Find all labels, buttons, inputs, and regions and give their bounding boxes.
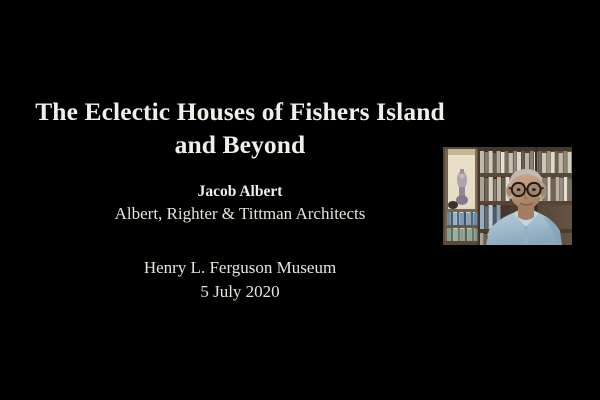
speaker-name: Jacob Albert [0, 181, 480, 202]
speaker-webcam-video[interactable] [443, 147, 572, 245]
slide-text-content: The Eclectic Houses of Fishers Island an… [0, 0, 480, 400]
slide-title-line-2: and Beyond [0, 128, 480, 161]
speaker-credit: Jacob Albert Albert, Righter & Tittman A… [0, 181, 480, 226]
slide-title: The Eclectic Houses of Fishers Island an… [0, 95, 480, 161]
venue-name: Henry L. Ferguson Museum [0, 256, 480, 280]
presentation-date: 5 July 2020 [0, 280, 480, 304]
slide-title-line-1: The Eclectic Houses of Fishers Island [0, 95, 480, 128]
presentation-slide-view: The Eclectic Houses of Fishers Island an… [0, 0, 600, 400]
venue-credit: Henry L. Ferguson Museum 5 July 2020 [0, 256, 480, 304]
webcam-frame-image [443, 147, 572, 245]
speaker-firm: Albert, Righter & Tittman Architects [0, 202, 480, 226]
